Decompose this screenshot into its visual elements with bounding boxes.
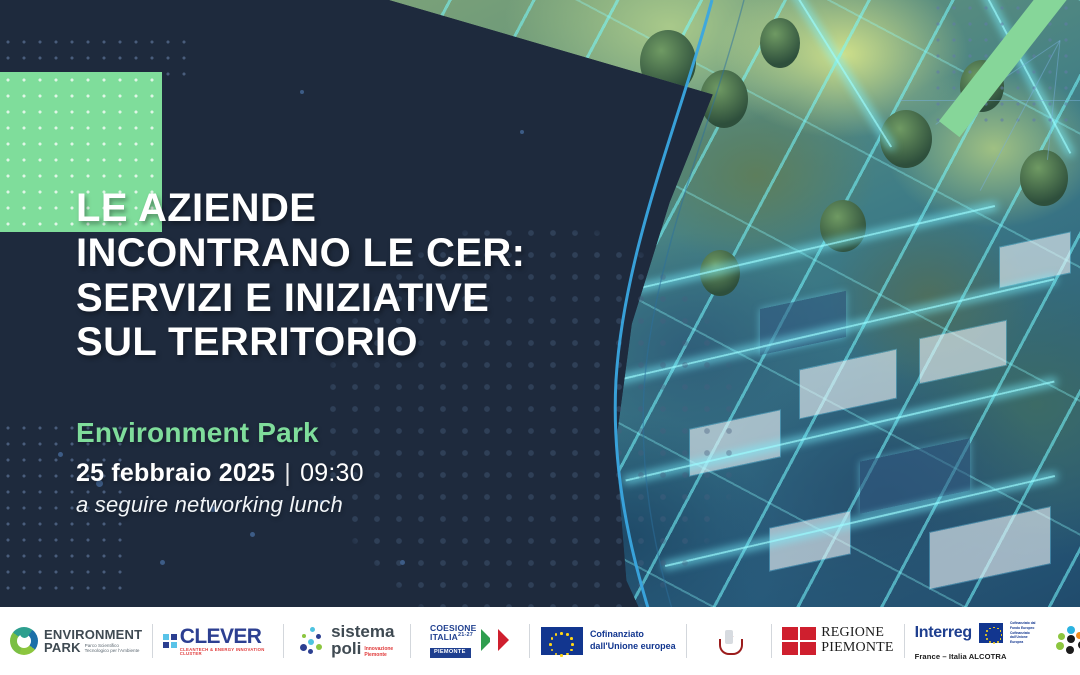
event-text-block: LE AZIENDE INCONTRANO LE CER: SERVIZI E … xyxy=(76,186,596,518)
logo-repubblica-italiana xyxy=(687,607,771,675)
dot-grid-topleft xyxy=(0,34,190,76)
logo-coesione-italia: COESIONE ITALIA21-27 PIEMONTE xyxy=(411,607,529,675)
event-date: 25 febbraio 2025 xyxy=(76,459,275,487)
ep-sub2: Tecnologico per l'Ambiente xyxy=(85,648,140,654)
coesione-years: 21-27 xyxy=(458,632,473,638)
clever-name: CLEVER xyxy=(180,626,274,647)
coesione-line2: ITALIA xyxy=(430,632,458,642)
title-line-2: INCONTRANO LE CER: xyxy=(76,231,596,276)
title-line-1: LE AZIENDE xyxy=(76,186,596,231)
decor-speck xyxy=(250,532,255,537)
eu-line2: dall'Unione europea xyxy=(590,641,676,653)
republic-emblem-icon xyxy=(716,627,742,655)
sistema-poli-line2: poli xyxy=(331,641,361,658)
clever-tagline: CLEANTECH & ENERGY INNOVATION CLUSTER xyxy=(180,648,274,657)
logo-clever: CLEVER CLEANTECH & ENERGY INNOVATION CLU… xyxy=(153,607,283,675)
interreg-eu-line4: dall'Unione Europea xyxy=(1010,635,1036,645)
title-line-4: SUL TERRITORIO xyxy=(76,320,596,365)
sistema-poli-dots-icon xyxy=(300,627,326,655)
sponsor-logo-bar: ENVIRONMENT PARK Parco Scientifico Tecno… xyxy=(0,607,1080,675)
logo-recrosses: RECROSSES xyxy=(1046,607,1080,675)
title-line-3: SERVIZI E INIZIATIVE xyxy=(76,276,596,321)
interreg-eu-line2: Fondo Europeo xyxy=(1010,626,1036,631)
regione-line2: PIEMONTE xyxy=(821,641,893,656)
interreg-eu-flag-icon xyxy=(979,623,1003,643)
interreg-programme: France – Italia ALCOTRA xyxy=(915,652,1036,661)
logo-unione-europea: Cofinanziato dall'Unione europea xyxy=(530,607,686,675)
date-separator: | xyxy=(282,459,293,487)
date-time-row: 25 febbraio 2025 | 09:30 xyxy=(76,459,596,488)
event-time: 09:30 xyxy=(300,459,364,487)
regione-piemonte-cross-icon xyxy=(782,627,816,655)
logo-regione-piemonte: REGIONE PIEMONTE xyxy=(772,607,903,675)
event-note: a seguire networking lunch xyxy=(76,492,596,518)
clever-squares-icon xyxy=(163,634,177,648)
logo-sistema-poli: sistema poli Innovazione Piemonte xyxy=(284,607,410,675)
decor-speck xyxy=(160,560,165,565)
logo-environment-park: ENVIRONMENT PARK Parco Scientifico Tecno… xyxy=(0,607,152,675)
decor-speck xyxy=(400,560,405,565)
ep-line2: PARK xyxy=(44,641,81,654)
decor-speck xyxy=(300,90,304,94)
decor-speck xyxy=(520,130,524,134)
environment-park-icon xyxy=(10,627,38,655)
coesione-badge: PIEMONTE xyxy=(430,648,471,658)
sistema-poli-sub2: Piemonte xyxy=(364,652,393,658)
sistema-poli-sub1: Innovazione xyxy=(364,646,393,652)
interreg-name: Interreg xyxy=(915,624,972,642)
decor-speck xyxy=(58,452,63,457)
event-banner: LE AZIENDE INCONTRANO LE CER: SERVIZI E … xyxy=(0,0,1080,675)
eu-flag-icon xyxy=(541,627,583,655)
logo-interreg: Interreg Cofinanziato dal Fondo Europeo … xyxy=(905,607,1046,675)
regione-line1: REGIONE xyxy=(821,626,893,641)
page-title: LE AZIENDE INCONTRANO LE CER: SERVIZI E … xyxy=(76,186,596,365)
recrosses-dots-icon xyxy=(1056,626,1080,656)
venue-name: Environment Park xyxy=(76,417,596,449)
italia-chevron-icon xyxy=(481,626,511,656)
eu-line1: Cofinanziato xyxy=(590,629,676,641)
